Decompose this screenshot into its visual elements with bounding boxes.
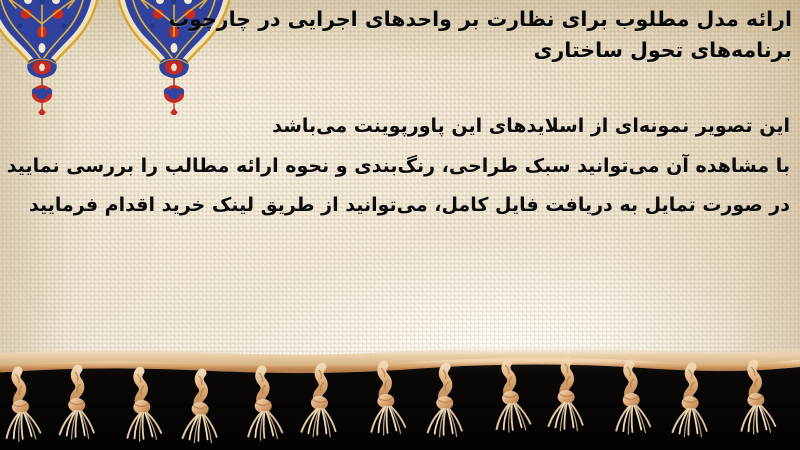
title-line-1: ارائه مدل مطلوب برای نظارت بر واحدهای اج… [152, 4, 792, 35]
body-line-1: این تصویر نمونه‌ای از اسلایدهای این پاور… [20, 107, 790, 147]
slide-title: ارائه مدل مطلوب برای نظارت بر واحدهای اج… [152, 4, 792, 66]
slide-body: این تصویر نمونه‌ای از اسلایدهای این پاور… [20, 107, 790, 226]
slide-canvas: ارائه مدل مطلوب برای نظارت بر واحدهای اج… [0, 0, 800, 450]
body-line-2: با مشاهده آن می‌توانید سبک طراحی، رنگ‌بن… [20, 147, 790, 187]
carpet-fringe-svg [0, 345, 800, 450]
title-line-2: برنامه‌های تحول ساختاری [152, 35, 792, 66]
body-line-3: در صورت تمایل به دریافت فایل کامل، می‌تو… [20, 186, 790, 226]
fringe-black-field [0, 359, 800, 450]
bottom-fringe [0, 345, 800, 450]
